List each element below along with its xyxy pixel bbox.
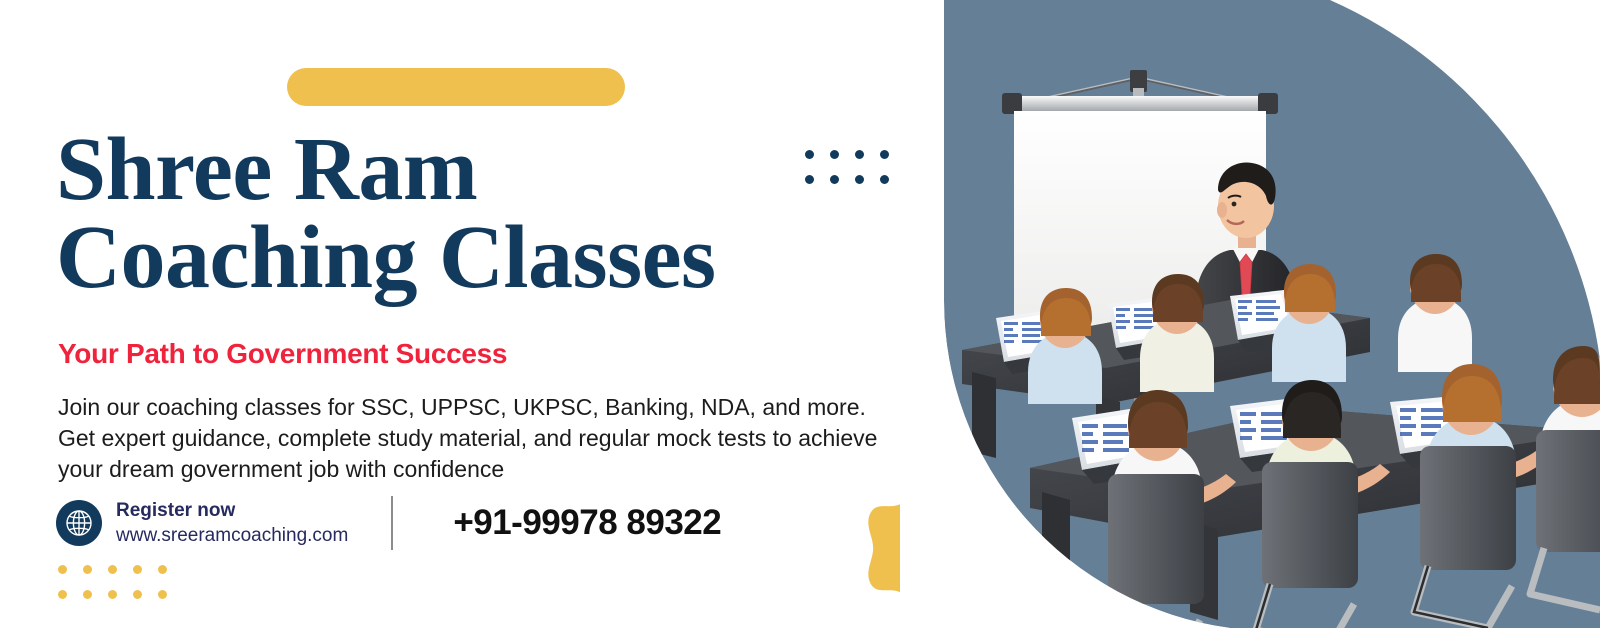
dot (83, 590, 92, 599)
phone-number[interactable]: +91-99978 89322 (453, 503, 721, 543)
dot (805, 175, 814, 184)
dot (880, 150, 889, 159)
dot (880, 175, 889, 184)
dot (830, 175, 839, 184)
globe-icon (56, 500, 102, 546)
vertical-divider (391, 496, 393, 550)
dot (158, 590, 167, 599)
subtitle: Your Path to Government Success (58, 338, 507, 370)
promo-banner: Shree Ram Coaching Classes Your Path to … (0, 0, 1600, 628)
classroom-illustration (900, 0, 1600, 628)
dot (855, 150, 864, 159)
dot (158, 565, 167, 574)
gold-dot-grid (58, 565, 183, 615)
website-link[interactable]: www.sreeramcoaching.com (116, 525, 348, 547)
left-content-panel: Shree Ram Coaching Classes Your Path to … (0, 0, 940, 628)
dot (805, 150, 814, 159)
body-description: Join our coaching classes for SSC, UPPSC… (58, 392, 898, 485)
dot (83, 565, 92, 574)
dot (133, 565, 142, 574)
register-label: Register now (116, 500, 348, 522)
badge-pill (287, 68, 625, 106)
dot (830, 150, 839, 159)
dot (108, 565, 117, 574)
page-title: Shree Ram Coaching Classes (56, 126, 936, 302)
register-block[interactable]: Register now www.sreeramcoaching.com (116, 500, 348, 547)
dot (855, 175, 864, 184)
dot (58, 565, 67, 574)
contact-row: Register now www.sreeramcoaching.com +91… (56, 496, 721, 550)
dot (133, 590, 142, 599)
dot (108, 590, 117, 599)
dot (58, 590, 67, 599)
